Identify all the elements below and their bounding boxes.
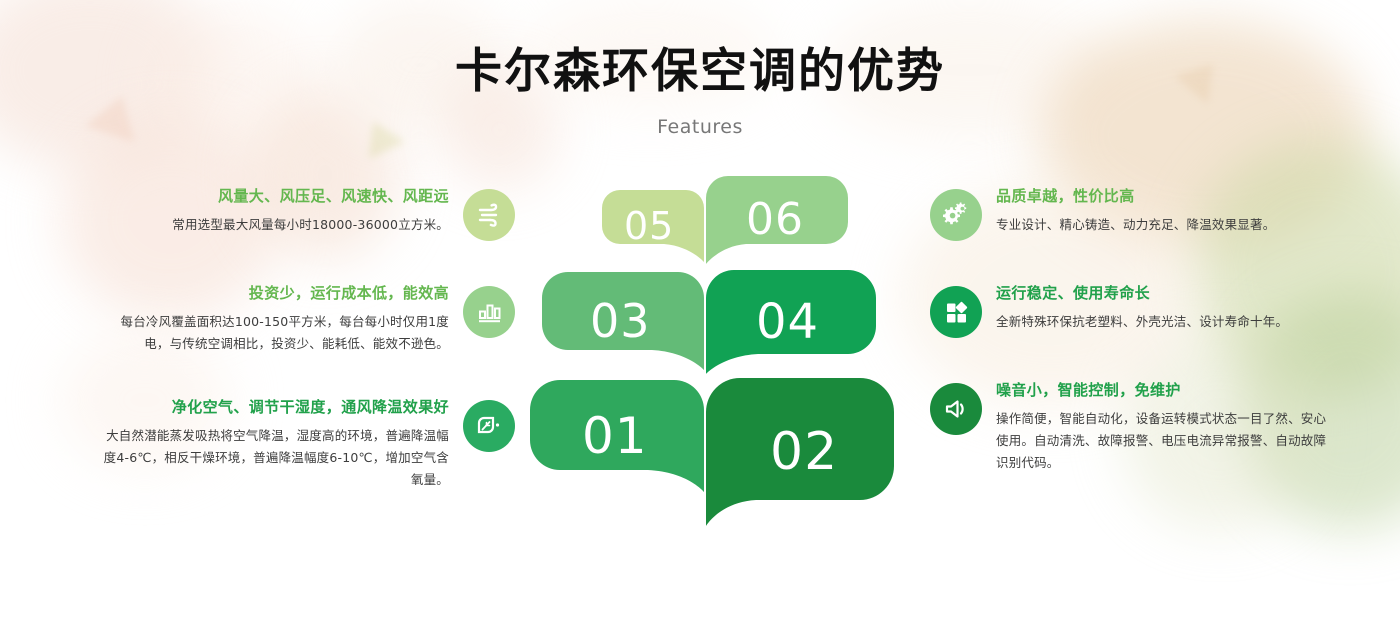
leaf-number: 05 (624, 207, 674, 245)
leaf-number: 04 (756, 298, 819, 346)
leaf-node-06[interactable]: 06 (706, 176, 848, 264)
feature-title: 噪音小，智能控制，免维护 (996, 380, 1330, 401)
page-subtitle: Features (0, 100, 1400, 138)
feature-list-right: 品质卓越，性价比高 专业设计、精心铸造、动力充足、降温效果显著。 运行稳定、使用… (930, 186, 1330, 474)
blocks-icon (930, 286, 982, 338)
bar-chart-icon (463, 286, 515, 338)
feature-description: 操作简便，智能自动化，设备运转模式状态一目了然、安心使用。自动清洗、故障报警、电… (996, 408, 1330, 474)
feature-text: 品质卓越，性价比高 专业设计、精心铸造、动力充足、降温效果显著。 (982, 186, 1275, 236)
feature-description: 大自然潜能蒸发吸热将空气降温，湿度高的环境，普遍降温幅度4-6℃，相反干燥环境，… (99, 425, 449, 491)
leaf-number: 03 (590, 298, 651, 344)
speaker-icon (930, 383, 982, 435)
leaf-tree-diagram: 05 06 03 04 01 02 (520, 176, 880, 546)
feature-title: 运行稳定、使用寿命长 (996, 283, 1288, 304)
feature-title: 品质卓越，性价比高 (996, 186, 1275, 207)
page-header: 卡尔森环保空调的优势 Features (0, 0, 1400, 138)
leaf-icon (463, 400, 515, 452)
leaf-number: 02 (770, 426, 838, 478)
feature-description: 专业设计、精心铸造、动力充足、降温效果显著。 (996, 214, 1275, 236)
feature-item-quality[interactable]: 品质卓越，性价比高 专业设计、精心铸造、动力充足、降温效果显著。 (930, 186, 1330, 241)
page-title: 卡尔森环保空调的优势 (0, 0, 1400, 100)
leaf-number: 06 (746, 198, 804, 242)
feature-text: 噪音小，智能控制，免维护 操作简便，智能自动化，设备运转模式状态一目了然、安心使… (982, 380, 1330, 474)
feature-item-efficiency[interactable]: 投资少，运行成本低，能效高 每台冷风覆盖面积达100-150平方米，每台每小时仅… (95, 283, 515, 355)
leaf-node-01[interactable]: 01 (530, 380, 704, 492)
feature-item-durability[interactable]: 运行稳定、使用寿命长 全新特殊环保抗老塑料、外壳光洁、设计寿命十年。 (930, 283, 1330, 338)
leaf-number: 01 (582, 411, 648, 461)
leaf-node-05[interactable]: 05 (602, 190, 704, 262)
feature-title: 净化空气、调节干湿度，通风降温效果好 (99, 397, 449, 418)
feature-item-air-purify[interactable]: 净化空气、调节干湿度，通风降温效果好 大自然潜能蒸发吸热将空气降温，湿度高的环境… (95, 397, 515, 491)
feature-title: 风量大、风压足、风速快、风距远 (172, 186, 449, 207)
feature-item-wind[interactable]: 风量大、风压足、风速快、风距远 常用选型最大风量每小时18000-36000立方… (95, 186, 515, 241)
feature-description: 每台冷风覆盖面积达100-150平方米，每台每小时仅用1度电，与传统空调相比，投… (99, 311, 449, 355)
feature-item-low-noise[interactable]: 噪音小，智能控制，免维护 操作简便，智能自动化，设备运转模式状态一目了然、安心使… (930, 380, 1330, 474)
leaf-node-04[interactable]: 04 (706, 270, 876, 374)
feature-text: 净化空气、调节干湿度，通风降温效果好 大自然潜能蒸发吸热将空气降温，湿度高的环境… (99, 397, 463, 491)
feature-text: 投资少，运行成本低，能效高 每台冷风覆盖面积达100-150平方米，每台每小时仅… (99, 283, 463, 355)
leaf-node-03[interactable]: 03 (542, 272, 704, 370)
gears-icon (930, 189, 982, 241)
wind-icon (463, 189, 515, 241)
feature-text: 风量大、风压足、风速快、风距远 常用选型最大风量每小时18000-36000立方… (172, 186, 463, 236)
leaf-node-02[interactable]: 02 (706, 378, 894, 526)
feature-description: 全新特殊环保抗老塑料、外壳光洁、设计寿命十年。 (996, 311, 1288, 333)
feature-title: 投资少，运行成本低，能效高 (99, 283, 449, 304)
feature-description: 常用选型最大风量每小时18000-36000立方米。 (172, 214, 449, 236)
feature-list-left: 风量大、风压足、风速快、风距远 常用选型最大风量每小时18000-36000立方… (95, 186, 515, 490)
feature-text: 运行稳定、使用寿命长 全新特殊环保抗老塑料、外壳光洁、设计寿命十年。 (982, 283, 1288, 333)
